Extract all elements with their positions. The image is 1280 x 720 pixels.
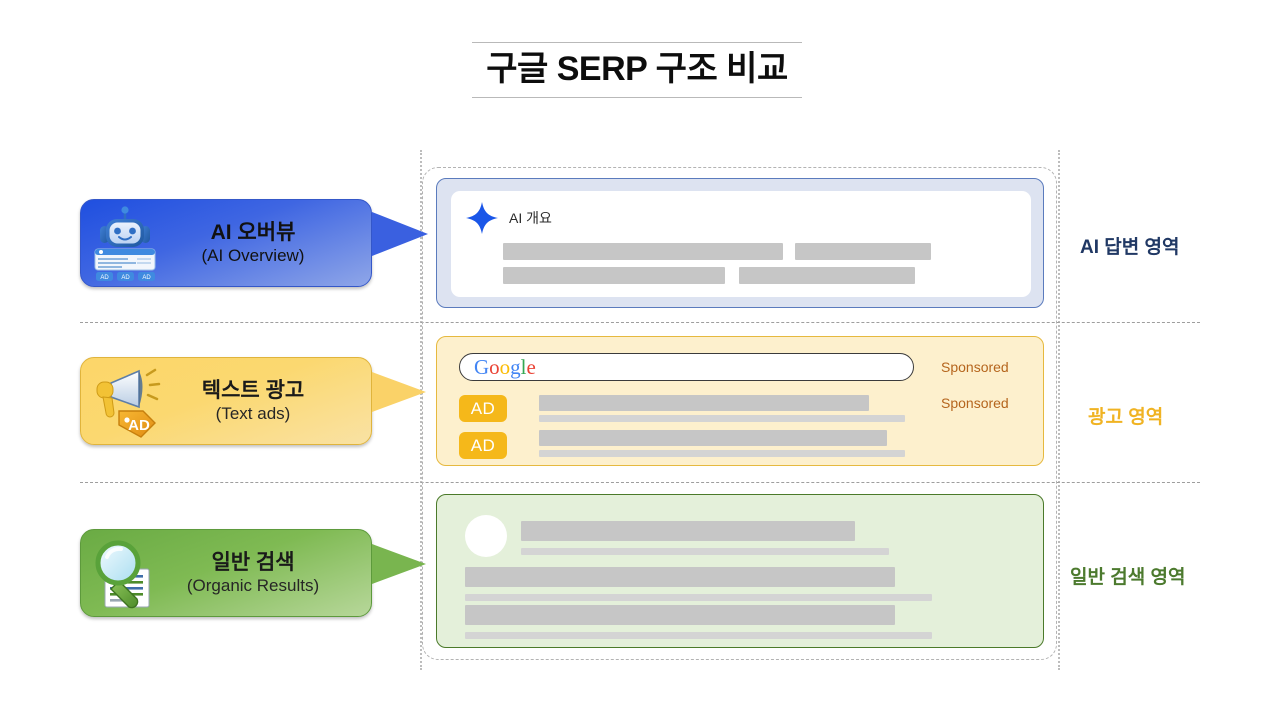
callout-tail	[372, 212, 428, 256]
logo-letter: g	[510, 355, 521, 379]
placeholder-bar	[795, 243, 931, 260]
title-text: 구글 SERP 구조 비교	[472, 43, 802, 97]
placeholder-bar	[503, 243, 783, 260]
placeholder-bar	[739, 267, 915, 284]
placeholder-bar	[465, 594, 932, 601]
robot-icon: AD AD AD	[89, 205, 161, 281]
callout-ai-overview[interactable]: AD AD AD AI 오버뷰 (AI Overview)	[80, 199, 372, 287]
callout-tail	[372, 372, 426, 412]
callout-labels: AI 오버뷰 (AI Overview)	[161, 221, 371, 265]
ad-badge[interactable]: AD	[459, 432, 507, 459]
placeholder-bar	[539, 415, 905, 422]
logo-letter: o	[489, 355, 500, 379]
magnifier-document-icon	[89, 535, 161, 611]
title-rule-bottom	[472, 97, 802, 98]
callout-label-en: (Organic Results)	[161, 576, 345, 595]
zone-label-organic: 일반 검색 영역	[1070, 562, 1185, 589]
zone-label-ads: 광고 영역	[1088, 402, 1163, 429]
serp-ai-overview-panel[interactable]: AI 개요	[436, 178, 1044, 308]
callout-text-ads[interactable]: AD 텍스트 광고 (Text ads)	[80, 357, 372, 445]
slide-canvas: 구글 SERP 구조 비교	[0, 0, 1280, 720]
callout-tail	[372, 544, 426, 584]
ai-overview-card: AI 개요	[451, 191, 1031, 297]
logo-letter: G	[474, 355, 489, 379]
placeholder-bar	[465, 632, 932, 639]
guide-line-right	[1058, 150, 1060, 670]
megaphone-ad-icon: AD	[89, 363, 161, 439]
svg-text:AD: AD	[142, 275, 151, 281]
google-search-box[interactable]: Google	[459, 353, 914, 381]
serp-organic-panel[interactable]	[436, 494, 1044, 648]
svg-text:AD: AD	[100, 275, 109, 281]
callout-organic-results[interactable]: 일반 검색 (Organic Results)	[80, 529, 372, 617]
svg-text:AD: AD	[128, 417, 150, 434]
circle-favicon	[465, 515, 507, 557]
callout-label-ko: AI 오버뷰	[161, 221, 345, 245]
placeholder-bar	[539, 395, 869, 411]
sparkle-icon	[465, 201, 499, 235]
placeholder-bar	[539, 430, 887, 446]
ad-badge[interactable]: AD	[459, 395, 507, 422]
callout-label-ko: 일반 검색	[161, 551, 345, 575]
placeholder-bar	[521, 548, 889, 555]
zone-label-ai: AI 답변 영역	[1080, 232, 1179, 259]
ai-overview-header: AI 개요	[465, 201, 552, 235]
ai-overview-heading: AI 개요	[509, 208, 552, 228]
callout-label-en: (Text ads)	[161, 404, 345, 423]
callout-label-en: (AI Overview)	[161, 246, 345, 265]
logo-letter: e	[527, 355, 536, 379]
placeholder-bar	[539, 450, 905, 457]
callout-labels: 일반 검색 (Organic Results)	[161, 551, 371, 595]
google-logo: Google	[474, 355, 536, 380]
logo-letter: o	[500, 355, 511, 379]
serp-ads-panel[interactable]: Google AD AD Sponsored Sponsored	[436, 336, 1044, 466]
placeholder-bar	[465, 567, 895, 587]
svg-text:AD: AD	[121, 275, 130, 281]
placeholder-bar	[465, 605, 895, 625]
placeholder-bar	[503, 267, 725, 284]
callout-labels: 텍스트 광고 (Text ads)	[161, 379, 371, 423]
sponsored-label: Sponsored	[941, 395, 1009, 411]
callout-label-ko: 텍스트 광고	[161, 379, 345, 403]
page-title: 구글 SERP 구조 비교	[472, 42, 802, 98]
placeholder-bar	[521, 521, 855, 541]
sponsored-label: Sponsored	[941, 359, 1009, 375]
